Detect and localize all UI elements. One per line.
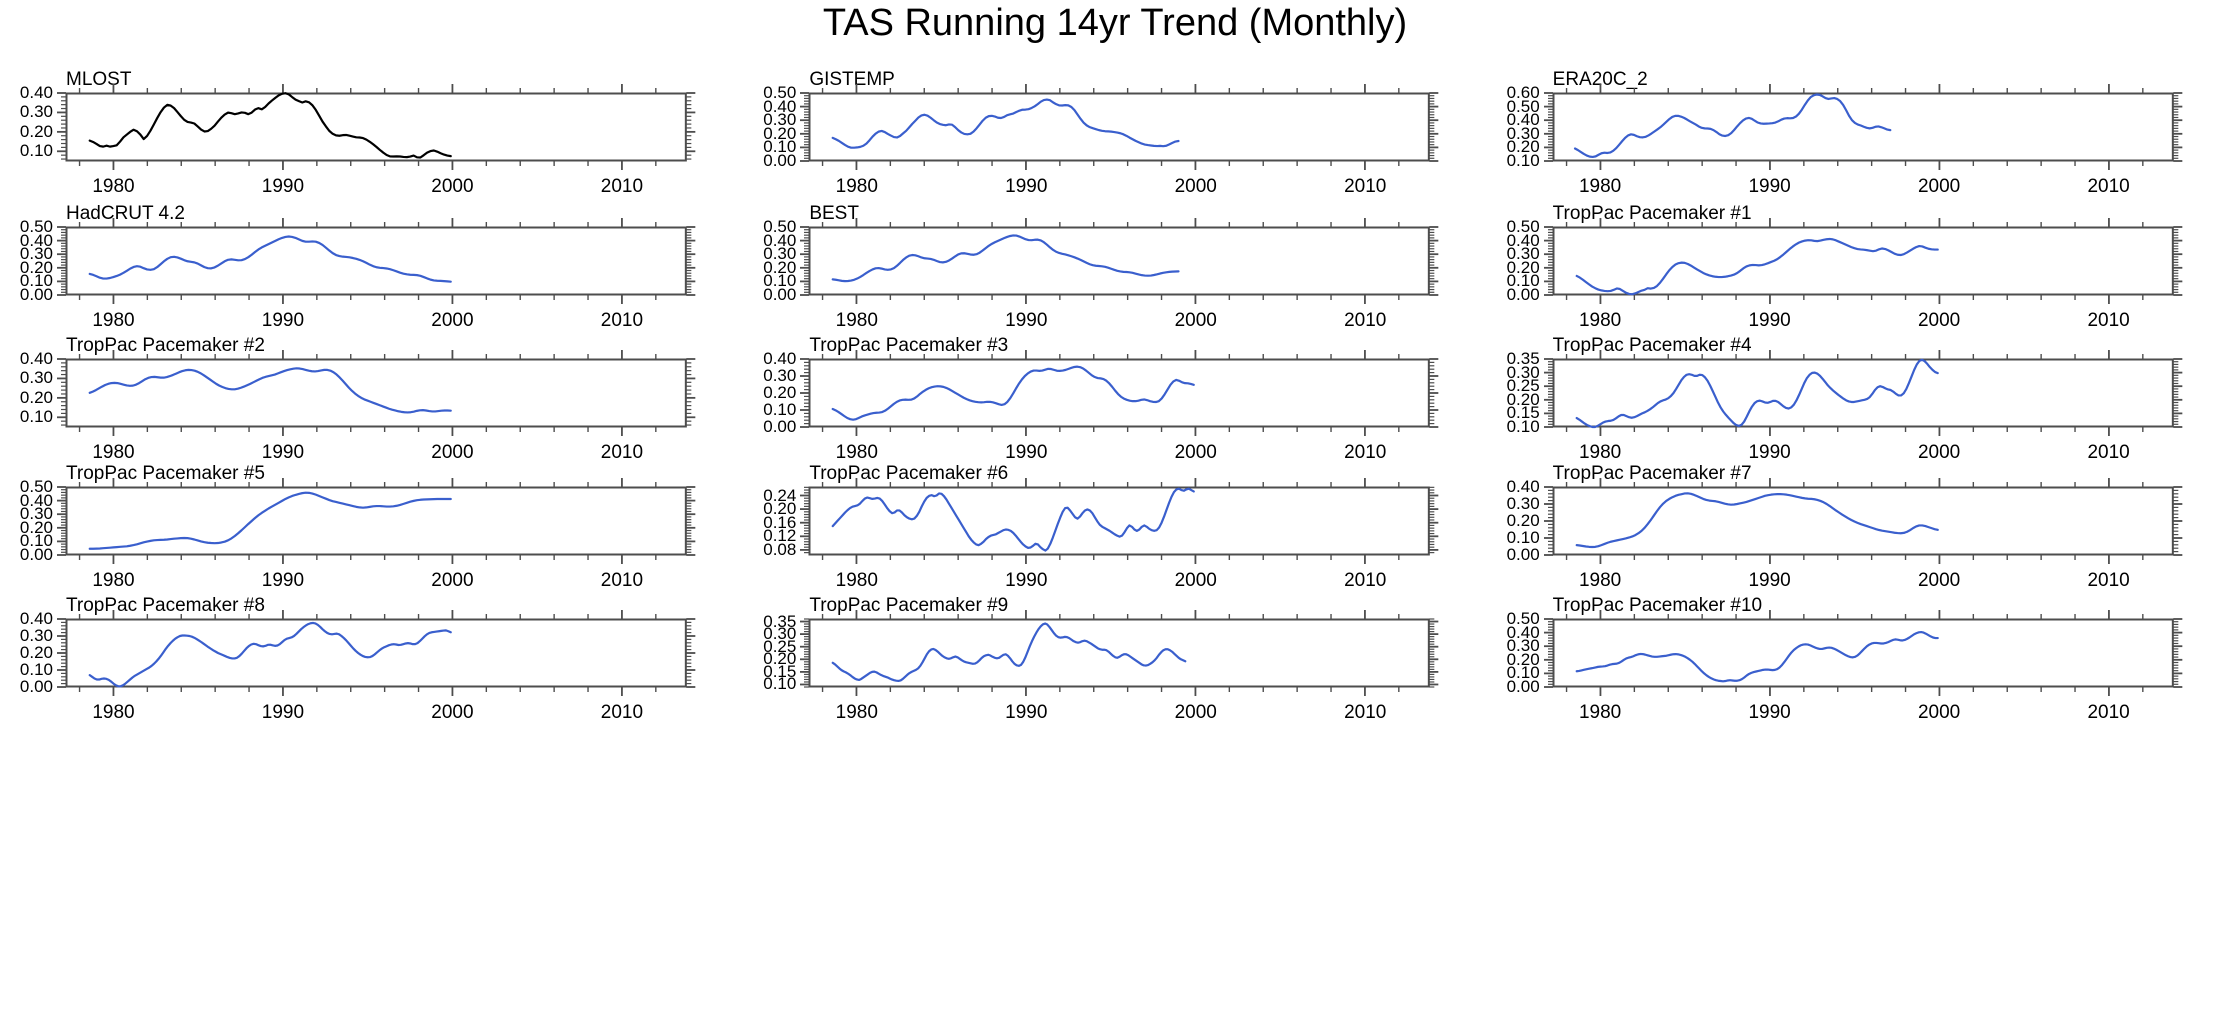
plot-area-best	[809, 227, 1429, 295]
plot-area-pacemaker10	[1553, 619, 2173, 687]
x-tick-label: 1980	[1579, 570, 1621, 592]
panel-title-best: BEST	[809, 203, 859, 225]
x-tick-label: 1990	[1005, 176, 1047, 198]
x-tick-label: 1980	[1579, 702, 1621, 724]
axes-frame	[67, 228, 686, 295]
axes-frame	[67, 488, 686, 555]
x-tick-label: 2000	[431, 702, 473, 724]
x-tick-label: 2000	[431, 442, 473, 464]
panel-title-pacemaker4: TropPac Pacemaker #4	[1553, 335, 1752, 357]
x-tick-label: 1990	[262, 442, 304, 464]
x-tick-label: 1990	[1748, 310, 1790, 332]
plot-area-pacemaker8	[66, 619, 686, 687]
y-tick-label: 0.40	[20, 349, 53, 369]
y-tick-label: 0.50	[1507, 609, 1540, 629]
figure-title: TAS Running 14yr Trend (Monthly)	[0, 2, 2230, 45]
y-tick-label: 0.40	[20, 83, 53, 103]
axes-frame	[67, 94, 686, 161]
y-tick-label: 0.20	[20, 643, 53, 663]
x-tick-label: 2010	[2087, 442, 2129, 464]
y-tick-label: 0.10	[20, 141, 53, 161]
x-tick-label: 1990	[1748, 442, 1790, 464]
data-line-pacemaker3	[833, 367, 1194, 420]
y-tick-label: 0.00	[763, 417, 796, 437]
axes-frame	[1553, 488, 2172, 555]
x-tick-label: 2000	[431, 310, 473, 332]
x-tick-label: 2000	[1918, 570, 1960, 592]
x-tick-label: 1980	[836, 570, 878, 592]
x-tick-label: 1980	[92, 176, 134, 198]
panel-pacemaker2: TropPac Pacemaker #20.100.200.300.401980…	[66, 359, 686, 427]
panel-title-mlost: MLOST	[66, 69, 131, 91]
y-tick-label: 0.30	[763, 366, 796, 386]
plot-area-pacemaker4	[1553, 359, 2173, 427]
x-tick-label: 1980	[836, 442, 878, 464]
panel-gistemp: GISTEMP0.000.100.200.300.400.50198019902…	[809, 93, 1429, 161]
data-line-gistemp	[833, 100, 1179, 148]
data-line-pacemaker6	[833, 489, 1194, 551]
x-tick-label: 1980	[836, 310, 878, 332]
axes-frame	[810, 94, 1429, 161]
y-tick-label: 0.30	[20, 368, 53, 388]
plot-area-gistemp	[809, 93, 1429, 161]
x-tick-label: 1990	[1748, 702, 1790, 724]
y-tick-label: 0.50	[763, 217, 796, 237]
panel-mlost: MLOST0.100.200.300.401980199020002010	[66, 93, 686, 161]
x-tick-label: 2000	[1175, 442, 1217, 464]
panel-title-pacemaker1: TropPac Pacemaker #1	[1553, 203, 1752, 225]
panel-title-gistemp: GISTEMP	[809, 69, 895, 91]
y-tick-label: 0.20	[1507, 511, 1540, 531]
x-tick-label: 1980	[92, 310, 134, 332]
y-tick-label: 0.50	[20, 217, 53, 237]
y-tick-label: 0.50	[1507, 217, 1540, 237]
x-tick-label: 2010	[1344, 176, 1386, 198]
x-tick-label: 1980	[836, 702, 878, 724]
panel-pacemaker9: TropPac Pacemaker #90.100.150.200.250.30…	[809, 619, 1429, 687]
x-tick-label: 2010	[1344, 310, 1386, 332]
panel-pacemaker8: TropPac Pacemaker #80.000.100.200.300.40…	[66, 619, 686, 687]
x-tick-label: 2000	[1918, 310, 1960, 332]
y-tick-label: 0.35	[1507, 349, 1540, 369]
axes-frame	[67, 360, 686, 427]
x-tick-label: 1990	[1748, 570, 1790, 592]
plot-area-pacemaker9	[809, 619, 1429, 687]
plot-area-hadcrut42	[66, 227, 686, 295]
y-tick-label: 0.24	[763, 486, 796, 506]
panel-pacemaker7: TropPac Pacemaker #70.000.100.200.300.40…	[1553, 487, 2173, 555]
panel-title-pacemaker5: TropPac Pacemaker #5	[66, 463, 265, 485]
plot-area-mlost	[66, 93, 686, 161]
x-tick-label: 2000	[1918, 702, 1960, 724]
x-tick-label: 2010	[1344, 442, 1386, 464]
panel-best: BEST0.000.100.200.300.400.50198019902000…	[809, 227, 1429, 295]
y-tick-label: 0.00	[20, 677, 53, 697]
figure-root: TAS Running 14yr Trend (Monthly) MLOST0.…	[0, 0, 2230, 1032]
panel-pacemaker10: TropPac Pacemaker #100.000.100.200.300.4…	[1553, 619, 2173, 687]
plot-area-pacemaker3	[809, 359, 1429, 427]
data-line-pacemaker4	[1576, 360, 1937, 427]
panel-title-pacemaker8: TropPac Pacemaker #8	[66, 595, 265, 617]
panel-pacemaker6: TropPac Pacemaker #60.080.120.160.200.24…	[809, 487, 1429, 555]
x-tick-label: 2010	[601, 702, 643, 724]
data-line-pacemaker9	[833, 624, 1186, 681]
x-tick-label: 1990	[1005, 310, 1047, 332]
panel-title-pacemaker9: TropPac Pacemaker #9	[809, 595, 1008, 617]
y-tick-label: 0.10	[20, 407, 53, 427]
y-tick-label: 0.20	[20, 122, 53, 142]
x-tick-label: 1990	[262, 570, 304, 592]
panel-pacemaker5: TropPac Pacemaker #50.000.100.200.300.40…	[66, 487, 686, 555]
x-tick-label: 1980	[92, 702, 134, 724]
x-tick-label: 1980	[92, 570, 134, 592]
data-line-era20c_2	[1575, 95, 1890, 157]
y-tick-label: 0.40	[763, 349, 796, 369]
panel-pacemaker1: TropPac Pacemaker #10.000.100.200.300.40…	[1553, 227, 2173, 295]
y-tick-label: 0.20	[20, 388, 53, 408]
panel-title-pacemaker2: TropPac Pacemaker #2	[66, 335, 265, 357]
plot-area-pacemaker7	[1553, 487, 2173, 555]
y-tick-label: 0.30	[20, 102, 53, 122]
panel-era20c_2: ERA20C_20.100.200.300.400.500.6019801990…	[1553, 93, 2173, 161]
axes-frame	[1553, 620, 2172, 687]
panel-pacemaker3: TropPac Pacemaker #30.000.100.200.300.40…	[809, 359, 1429, 427]
x-tick-label: 2000	[1175, 570, 1217, 592]
plot-area-pacemaker5	[66, 487, 686, 555]
data-line-pacemaker2	[90, 368, 451, 412]
x-tick-label: 1980	[92, 442, 134, 464]
x-tick-label: 2010	[601, 570, 643, 592]
x-tick-label: 1980	[1579, 442, 1621, 464]
data-line-pacemaker1	[1576, 239, 1937, 294]
x-tick-label: 1980	[1579, 310, 1621, 332]
x-tick-label: 2010	[2087, 570, 2129, 592]
plot-area-pacemaker6	[809, 487, 1429, 555]
data-line-pacemaker10	[1576, 632, 1937, 681]
data-line-pacemaker7	[1576, 493, 1937, 547]
x-tick-label: 2000	[431, 570, 473, 592]
y-tick-label: 0.50	[20, 477, 53, 497]
x-tick-label: 2000	[1175, 310, 1217, 332]
x-tick-label: 1980	[1579, 176, 1621, 198]
x-tick-label: 2000	[431, 176, 473, 198]
x-tick-label: 1990	[1748, 176, 1790, 198]
x-tick-label: 2010	[601, 310, 643, 332]
data-line-mlost	[90, 93, 451, 157]
x-tick-label: 2010	[601, 442, 643, 464]
x-tick-label: 1990	[262, 310, 304, 332]
data-line-best	[833, 235, 1179, 281]
x-tick-label: 2000	[1175, 702, 1217, 724]
axes-frame	[810, 620, 1429, 687]
y-tick-label: 0.30	[1507, 494, 1540, 514]
y-tick-label: 0.50	[763, 83, 796, 103]
plot-area-pacemaker1	[1553, 227, 2173, 295]
x-tick-label: 1990	[1005, 442, 1047, 464]
x-tick-label: 1980	[836, 176, 878, 198]
y-tick-label: 0.60	[1507, 83, 1540, 103]
x-tick-label: 2000	[1918, 442, 1960, 464]
x-tick-label: 1990	[1005, 570, 1047, 592]
panel-title-pacemaker6: TropPac Pacemaker #6	[809, 463, 1008, 485]
y-tick-label: 0.30	[20, 626, 53, 646]
x-tick-label: 2010	[2087, 702, 2129, 724]
panel-title-hadcrut42: HadCRUT 4.2	[66, 203, 185, 225]
x-tick-label: 1990	[262, 176, 304, 198]
y-tick-label: 0.00	[1507, 545, 1540, 565]
data-line-pacemaker8	[90, 623, 451, 686]
axes-frame	[810, 488, 1429, 555]
data-line-hadcrut42	[90, 237, 451, 282]
x-tick-label: 2010	[1344, 702, 1386, 724]
panel-title-pacemaker10: TropPac Pacemaker #10	[1553, 595, 1762, 617]
x-tick-label: 2000	[1175, 176, 1217, 198]
y-tick-label: 0.40	[1507, 477, 1540, 497]
panel-title-pacemaker3: TropPac Pacemaker #3	[809, 335, 1008, 357]
axes-frame	[1553, 228, 2172, 295]
plot-area-pacemaker2	[66, 359, 686, 427]
x-tick-label: 2010	[2087, 310, 2129, 332]
y-tick-label: 0.40	[20, 609, 53, 629]
axes-frame	[1553, 360, 2172, 427]
y-tick-label: 0.20	[763, 383, 796, 403]
x-tick-label: 1990	[1005, 702, 1047, 724]
y-tick-label: 0.10	[763, 400, 796, 420]
data-line-pacemaker5	[90, 493, 451, 549]
y-tick-label: 0.35	[763, 612, 796, 632]
x-tick-label: 2010	[1344, 570, 1386, 592]
axes-frame	[810, 360, 1429, 427]
panel-pacemaker4: TropPac Pacemaker #40.100.150.200.250.30…	[1553, 359, 2173, 427]
x-tick-label: 1990	[262, 702, 304, 724]
x-tick-label: 2010	[2087, 176, 2129, 198]
panel-hadcrut42: HadCRUT 4.20.000.100.200.300.400.5019801…	[66, 227, 686, 295]
panel-title-pacemaker7: TropPac Pacemaker #7	[1553, 463, 1752, 485]
x-tick-label: 2000	[1918, 176, 1960, 198]
y-tick-label: 0.10	[1507, 528, 1540, 548]
y-tick-label: 0.10	[20, 660, 53, 680]
plot-area-era20c_2	[1553, 93, 2173, 161]
x-tick-label: 2010	[601, 176, 643, 198]
